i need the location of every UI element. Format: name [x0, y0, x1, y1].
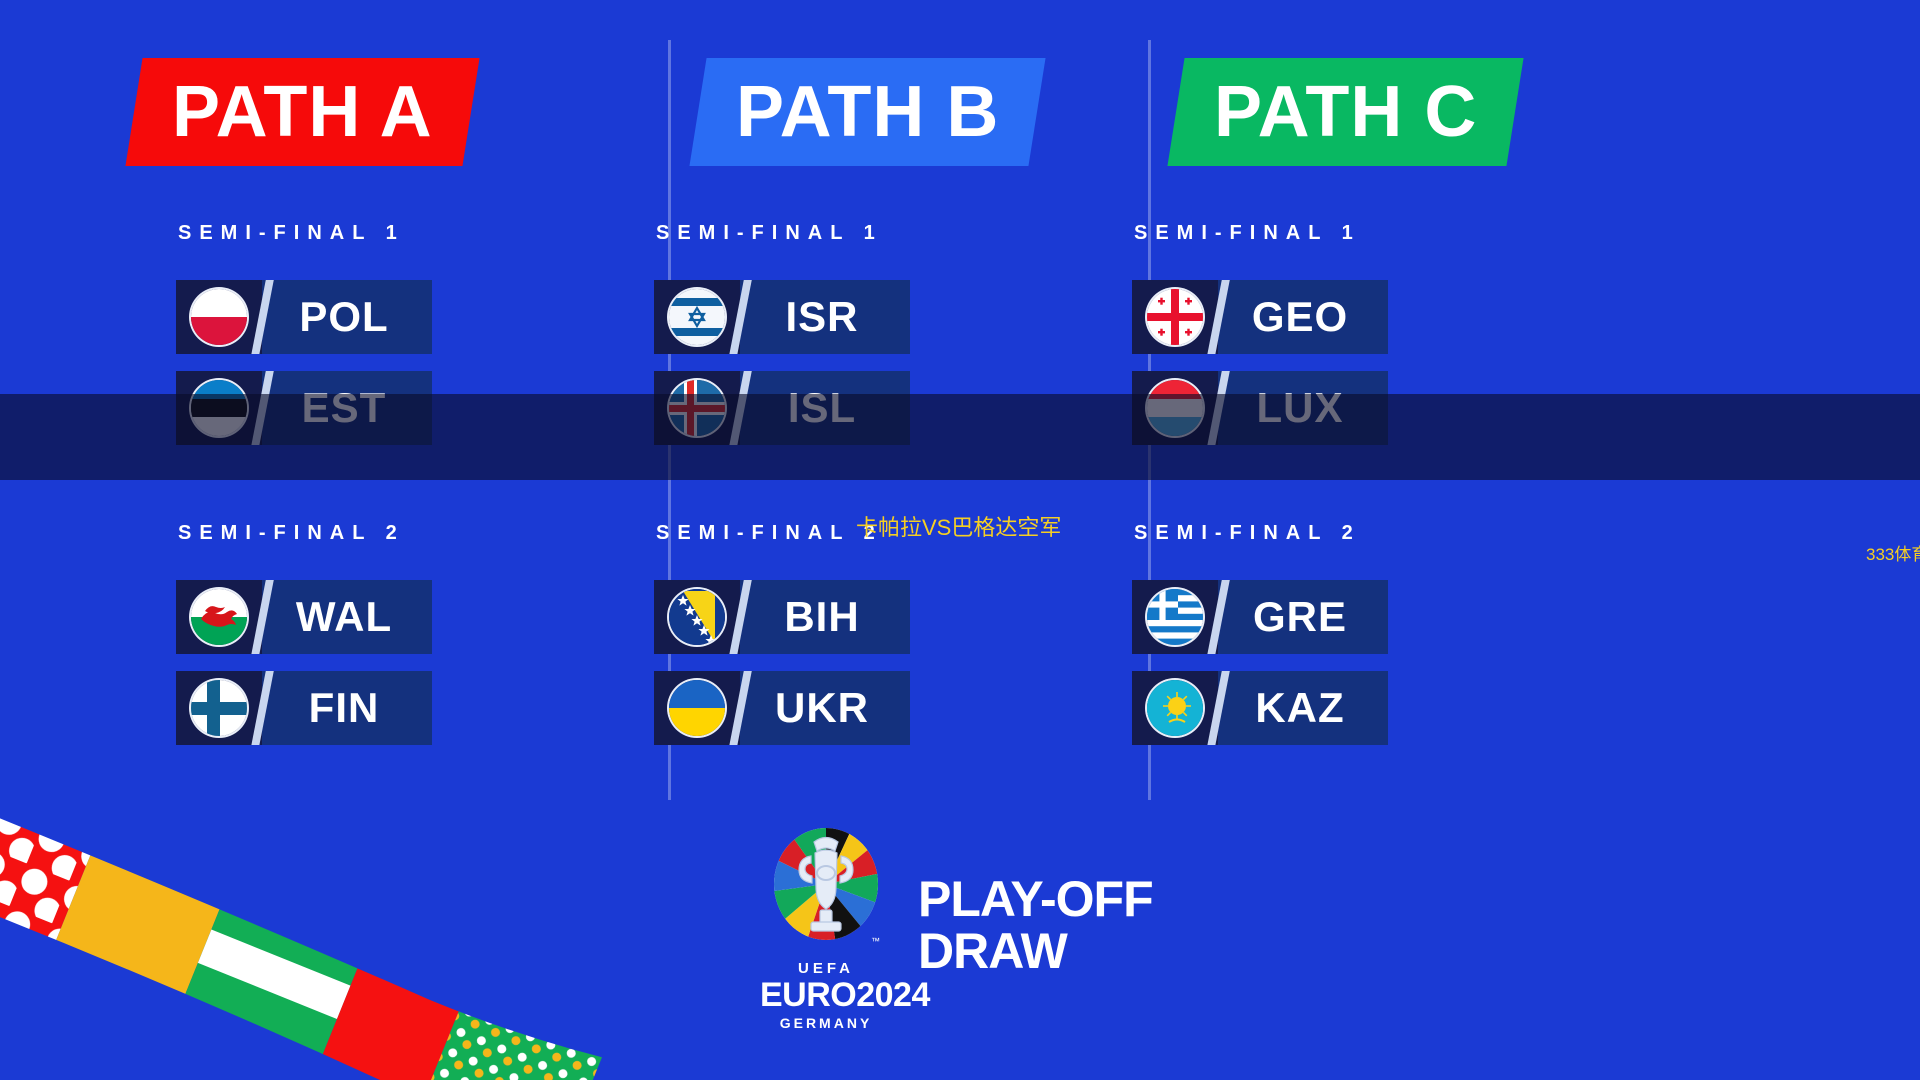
path-c-banner-label: PATH C — [1214, 58, 1477, 166]
euro-2024-logo: ™ UEFA EURO2024 GERMANY — [760, 826, 892, 1031]
greece-flag-icon — [1147, 589, 1203, 645]
badge-cell-fin — [176, 671, 262, 745]
path-c-banner: PATH C — [1167, 58, 1523, 166]
team-row-gre[interactable]: GRE — [1132, 580, 1388, 654]
team-row-wal[interactable]: WAL — [176, 580, 432, 654]
path-c-semifinal-2-label: SEMI-FINAL 2 — [1134, 522, 1361, 545]
path-a-semifinal-1-label: SEMI-FINAL 1 — [178, 222, 405, 245]
badge-cell-wal — [176, 580, 262, 654]
footer-title-line2: DRAW — [918, 925, 1153, 977]
logo-uefa-text: UEFA — [760, 960, 892, 977]
badge-cell-pol — [176, 280, 262, 354]
path-a-banner-label: PATH A — [172, 58, 433, 166]
wales-flag-icon — [191, 589, 247, 645]
path-a-semifinal-2-label: SEMI-FINAL 2 — [178, 522, 405, 545]
kazakhstan-flag-icon — [1147, 680, 1203, 736]
playoff-draw-graphic: PATH A SEMI-FINAL 1 POL — [0, 0, 1920, 1080]
badge-cell-isr — [654, 280, 740, 354]
team-row-pol[interactable]: POL — [176, 280, 432, 354]
team-row-kaz[interactable]: KAZ — [1132, 671, 1388, 745]
team-code-kaz: KAZ — [1218, 684, 1388, 732]
logo-euro-text: EURO2024 — [760, 977, 892, 1013]
overlay-band — [0, 394, 1920, 480]
path-a-banner-wrap: PATH A — [134, 58, 471, 166]
team-row-geo[interactable]: GEO — [1132, 280, 1388, 354]
badge-cell-bih — [654, 580, 740, 654]
poland-flag-icon — [191, 289, 247, 345]
team-code-wal: WAL — [262, 593, 432, 641]
badge-cell-gre — [1132, 580, 1218, 654]
overlay-watermark-right: 333体育 — [1866, 540, 1920, 565]
path-b-banner-label: PATH B — [736, 58, 999, 166]
ukraine-flag-icon — [669, 680, 725, 736]
overlay-watermark-center: 卡帕拉VS巴格达空军 — [856, 510, 1061, 542]
bosnia-flag-icon — [669, 589, 725, 645]
badge-cell-geo — [1132, 280, 1218, 354]
team-row-ukr[interactable]: UKR — [654, 671, 910, 745]
path-b-semifinal-1-label: SEMI-FINAL 1 — [656, 222, 883, 245]
path-c-banner-wrap: PATH C — [1176, 58, 1515, 166]
team-row-bih[interactable]: BIH — [654, 580, 910, 654]
team-code-bih: BIH — [740, 593, 910, 641]
team-code-ukr: UKR — [740, 684, 910, 732]
finland-flag-icon — [191, 680, 247, 736]
team-code-isr: ISR — [740, 293, 910, 341]
logo-germany-text: GERMANY — [760, 1015, 892, 1031]
footer-title: PLAY-OFF DRAW — [918, 873, 1153, 977]
team-code-gre: GRE — [1218, 593, 1388, 641]
euro-2024-trophy-logo: ™ — [767, 826, 885, 956]
path-a-banner: PATH A — [125, 58, 479, 166]
path-b-semifinal-2-label: SEMI-FINAL 2 — [656, 522, 883, 545]
badge-cell-ukr — [654, 671, 740, 745]
israel-flag-icon — [669, 289, 725, 345]
team-code-fin: FIN — [262, 684, 432, 732]
path-c-semifinal-1-label: SEMI-FINAL 1 — [1134, 222, 1361, 245]
team-row-fin[interactable]: FIN — [176, 671, 432, 745]
footer: ™ UEFA EURO2024 GERMANY PLAY-OFF DRAW — [760, 826, 1153, 1031]
team-code-geo: GEO — [1218, 293, 1388, 341]
path-b-banner-wrap: PATH B — [698, 58, 1037, 166]
path-b-banner: PATH B — [689, 58, 1045, 166]
badge-cell-kaz — [1132, 671, 1218, 745]
svg-text:™: ™ — [871, 936, 880, 946]
team-code-pol: POL — [262, 293, 432, 341]
footer-title-line1: PLAY-OFF — [918, 873, 1153, 925]
team-row-isr[interactable]: ISR — [654, 280, 910, 354]
georgia-flag-icon — [1147, 289, 1203, 345]
